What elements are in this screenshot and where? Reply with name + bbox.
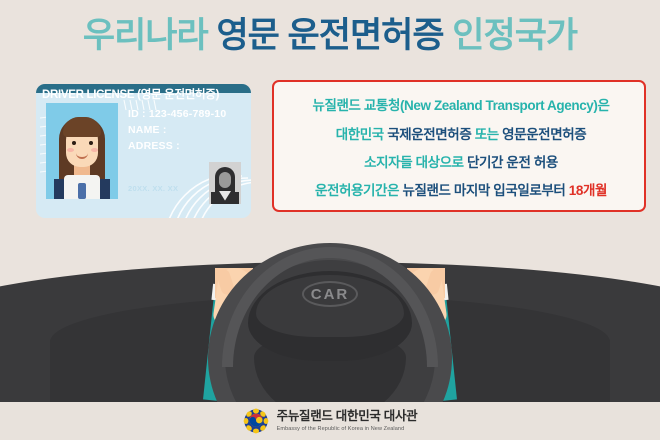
page-title: 우리나라 영문 운전면허증 인정국가 xyxy=(0,14,660,58)
title-part-2: 영문 운전면허증 xyxy=(216,16,443,55)
license-name-field: NAME : xyxy=(128,124,167,136)
title-part-1: 우리나라 xyxy=(83,16,208,55)
info-line-4-duration: 18개월 xyxy=(569,183,607,198)
infographic-poster: 우리나라 영문 운전면허증 인정국가 CAR DRIVER LICENSE (영… xyxy=(0,0,660,440)
title-part-3: 인정국가 xyxy=(452,16,577,55)
info-line-2-teal-1: 대한민국 xyxy=(336,127,384,142)
info-line-1: 뉴질랜드 교통청(New Zealand Transport Agency)은 xyxy=(274,94,648,114)
footer-bar: 주뉴질랜드 대한민국 대사관 Embassy of the Republic o… xyxy=(0,402,660,440)
license-id-field: ID : 123-456-789-10 xyxy=(128,108,226,120)
driver-license-card: DRIVER LICENSE (영문 운전면허증) xyxy=(36,84,251,218)
portrait-ribbon xyxy=(78,183,86,199)
info-line-2-teal-2: 또는 xyxy=(475,127,499,142)
license-watermark-photo xyxy=(209,162,241,204)
info-line-3: 소지자들 대상으로 단기간 운전 허용 xyxy=(274,151,648,171)
info-line-3-teal: 소지자들 대상으로 xyxy=(364,155,464,170)
info-line-4-navy: 뉴질랜드 마지막 입국일로부터 xyxy=(402,183,565,198)
portrait-left-eye xyxy=(72,141,76,145)
license-portrait-photo xyxy=(46,103,118,199)
info-line-2-navy-1: 국제운전면허증 xyxy=(387,127,471,142)
portrait-right-eye xyxy=(89,141,93,145)
info-line-3-navy: 단기간 운전 허용 xyxy=(467,155,558,170)
info-line-4: 운전허용기간은 뉴질랜드 마지막 입국일로부터 18개월 xyxy=(274,179,648,199)
footer-english-title: Embassy of the Republic of Korea in New … xyxy=(277,426,418,432)
car-logo-text: CAR xyxy=(248,286,412,303)
info-line-2-navy-2: 영문운전면허증 xyxy=(502,127,586,142)
portrait-bangs xyxy=(63,117,101,137)
information-box: 뉴질랜드 교통청(New Zealand Transport Agency)은 … xyxy=(272,80,646,212)
korea-national-emblem-icon xyxy=(243,408,269,434)
info-line-4-teal: 운전허용기간은 xyxy=(315,183,399,198)
info-line-1-text: 뉴질랜드 교통청(New Zealand Transport Agency)은 xyxy=(312,98,609,113)
watermark-face xyxy=(219,172,231,188)
footer-korean-title: 주뉴질랜드 대한민국 대사관 xyxy=(277,410,418,424)
info-line-2: 대한민국 국제운전면허증 또는 영문운전면허증 xyxy=(274,123,648,143)
portrait-left-cheek xyxy=(67,148,74,152)
portrait-right-cheek xyxy=(91,148,98,152)
